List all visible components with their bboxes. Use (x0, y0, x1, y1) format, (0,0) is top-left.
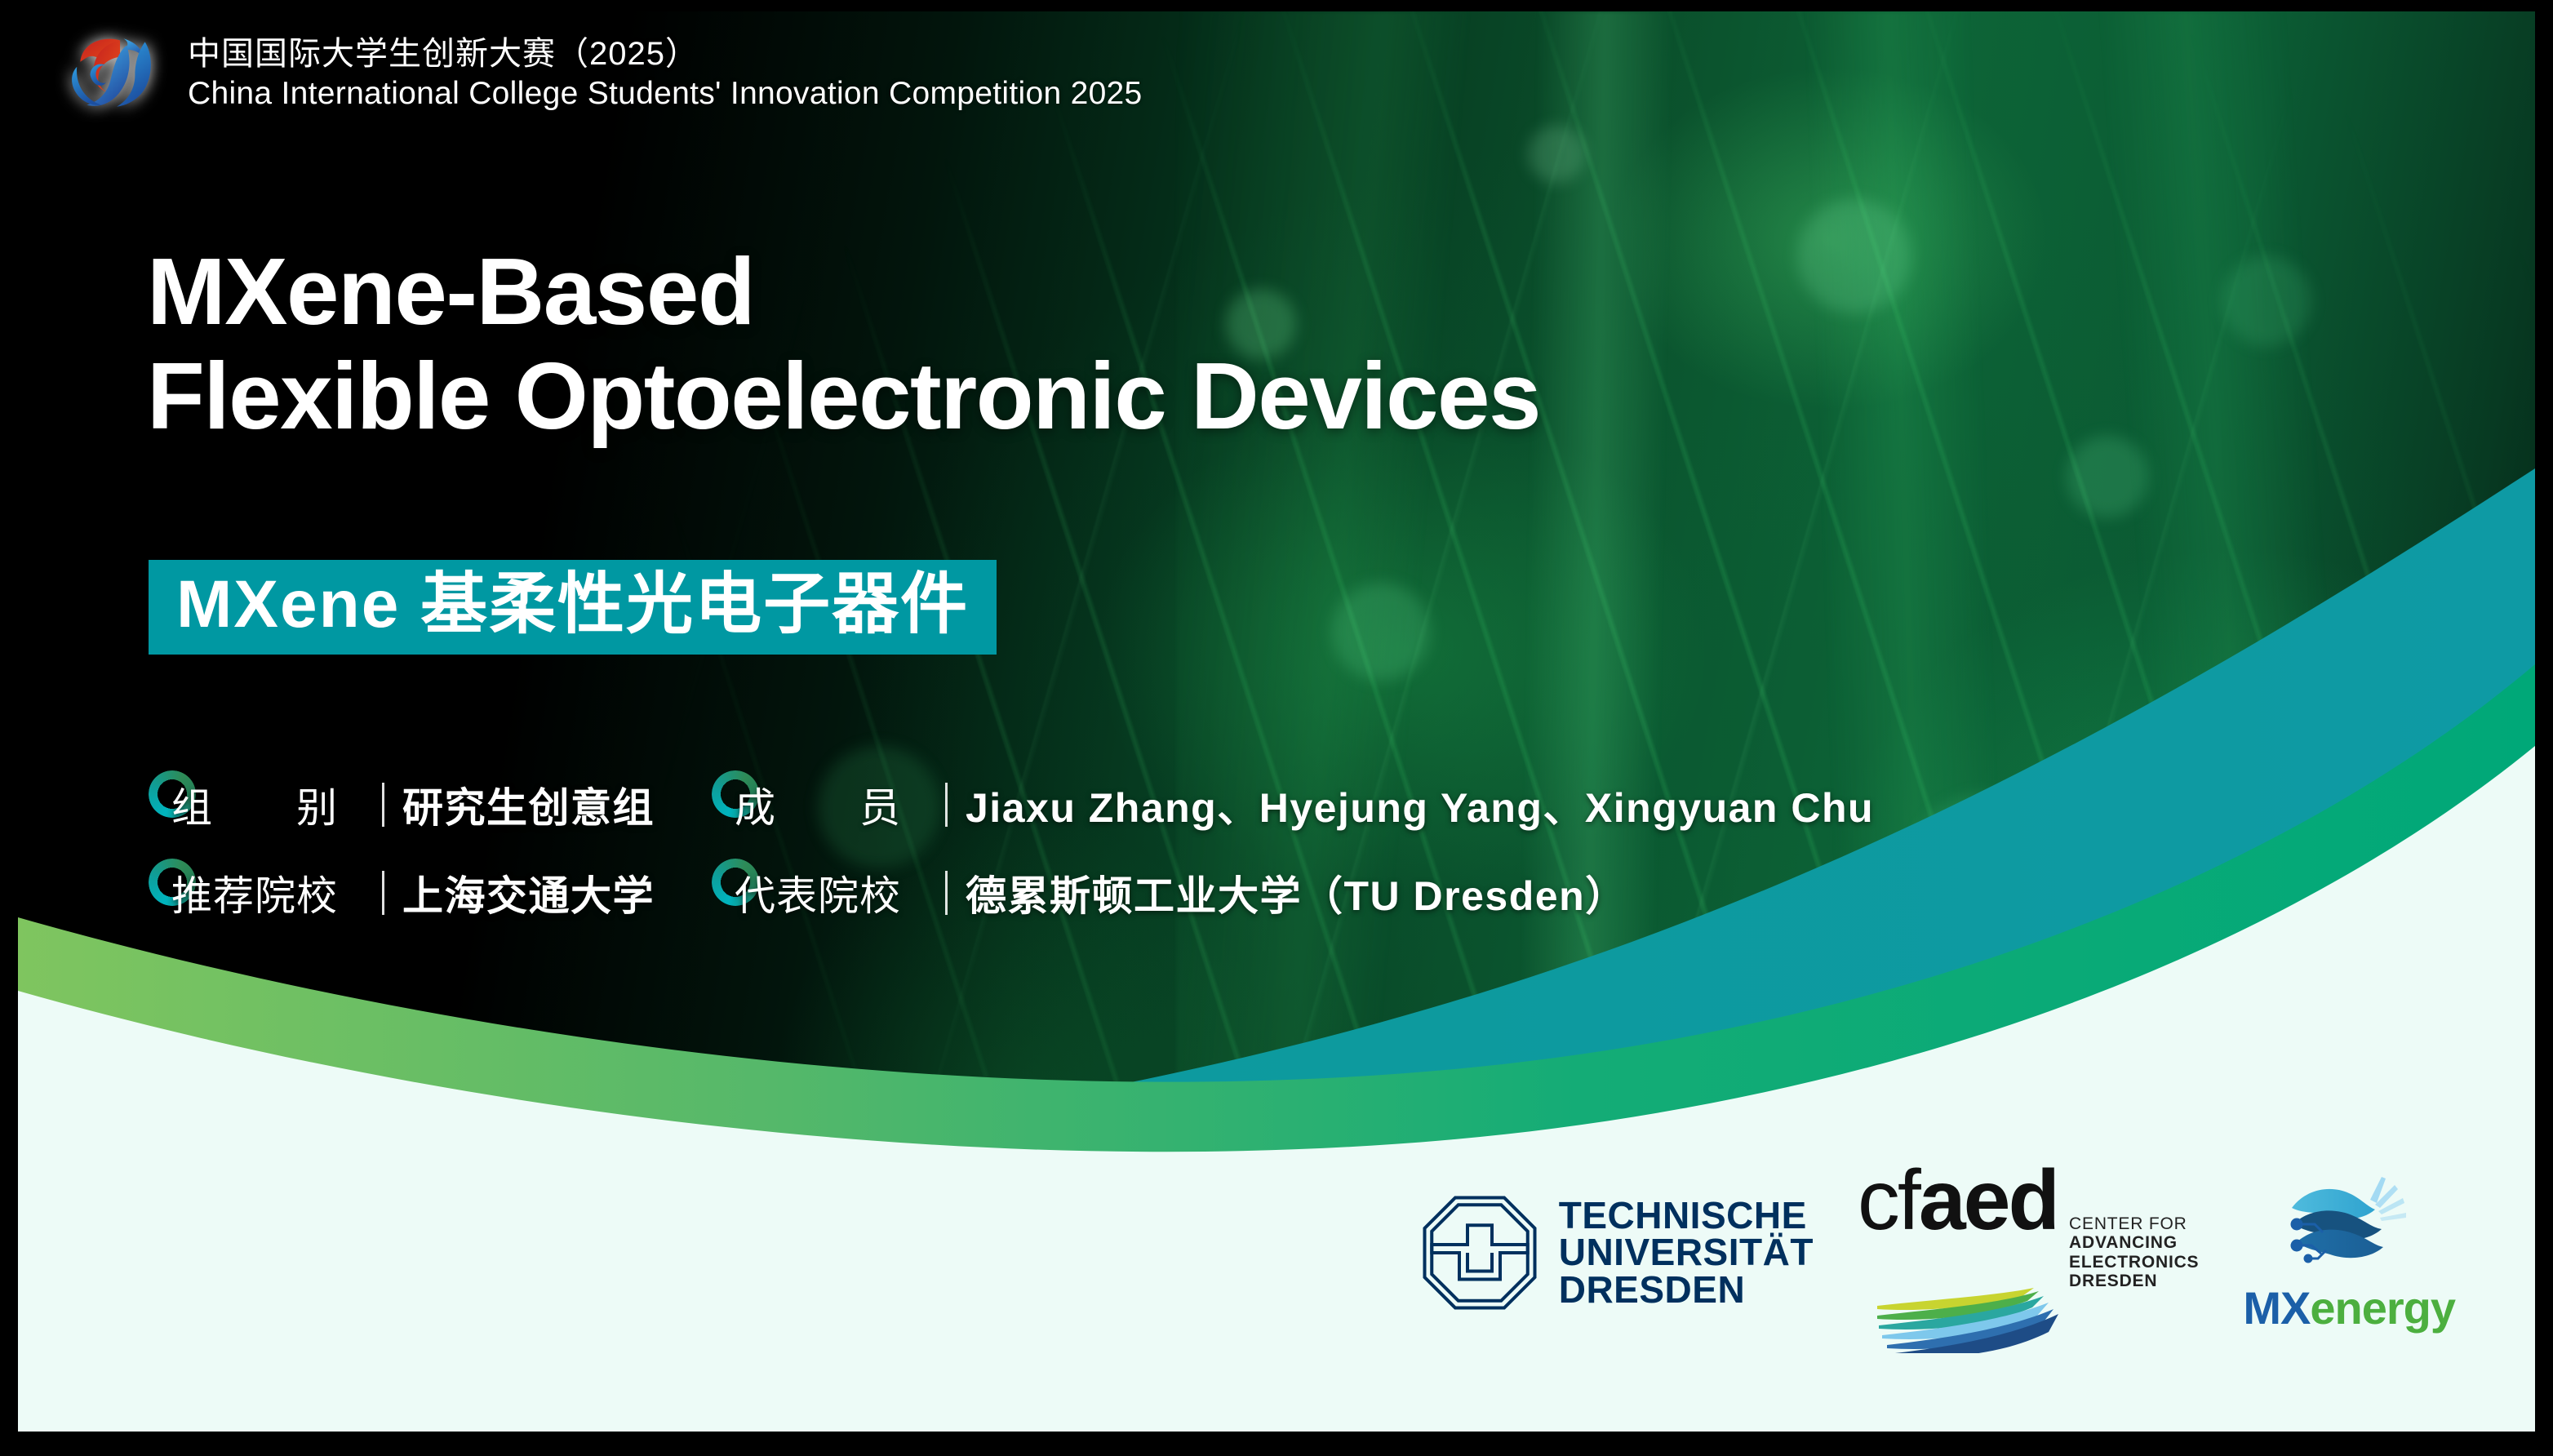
cfaed-wordmark: cf aed CENTER FOR ADVANCING ELECTRONICS … (1858, 1152, 2199, 1299)
meta-field-representing-school: 代表院校 德累斯顿工业大学（TU Dresden） (712, 863, 1627, 922)
tu-dresden-wordmark: TECHNISCHE UNIVERSITÄT DRESDEN (1559, 1197, 1814, 1307)
meta-label-members: 成 员 (735, 775, 927, 834)
tu-dresden-octagon-icon (1419, 1192, 1541, 1314)
cfaed-sub4: DRESDEN (2069, 1272, 2199, 1291)
mxenergy-wordmark: MXenergy (2243, 1281, 2455, 1334)
meta-label-group: 组 别 (171, 775, 364, 834)
meta-row: 推荐院校 上海交通大学 代表院校 德累斯顿工业大学（TU Dresden） (149, 849, 1874, 937)
meta-value-group: 研究生创意组 (402, 775, 655, 834)
mxenergy-word-mx: MX (2243, 1282, 2310, 1334)
tu-dresden-line1: TECHNISCHE (1559, 1197, 1814, 1234)
tu-dresden-line3: DRESDEN (1559, 1272, 1814, 1308)
project-title-cn-banner: MXene 基柔性光电子器件 (149, 560, 997, 655)
competition-name-block: 中国国际大学生创新大赛（2025） China International Co… (188, 34, 1143, 113)
cfaed-swoosh-icon (1871, 1288, 2075, 1353)
logo-cfaed: cf aed CENTER FOR ADVANCING ELECTRONICS … (1858, 1152, 2199, 1353)
cfaed-sub3: ELECTRONICS (2069, 1253, 2199, 1272)
meta-value-representing-school: 德累斯顿工业大学（TU Dresden） (966, 863, 1627, 922)
project-title: MXene-Based Flexible Optoelectronic Devi… (147, 240, 1540, 448)
project-title-line2: Flexible Optoelectronic Devices (147, 344, 1540, 449)
mxenergy-layers-icon (2279, 1170, 2419, 1285)
partner-logos: TECHNISCHE UNIVERSITÄT DRESDEN cf aed CE… (1419, 1152, 2455, 1353)
meta-label-recommending-school: 推荐院校 (171, 863, 364, 922)
cfaed-subtitle: CENTER FOR ADVANCING ELECTRONICS DRESDEN (2069, 1214, 2199, 1299)
cfaed-sub2: ADVANCING (2069, 1233, 2199, 1253)
meta-row: 组 别 研究生创意组 成 员 Jiaxu Zhang、Hyejung Yang、… (149, 761, 1874, 849)
meta-field-members: 成 员 Jiaxu Zhang、Hyejung Yang、Xingyuan Ch… (712, 775, 1874, 834)
cfaed-wordmark-light: cf (1858, 1152, 1919, 1250)
meta-divider (945, 871, 948, 915)
logo-tu-dresden: TECHNISCHE UNIVERSITÄT DRESDEN (1419, 1192, 1814, 1314)
competition-name-en: China International College Students' In… (188, 75, 1143, 113)
project-title-line1: MXene-Based (147, 240, 1540, 344)
project-title-cn: MXene 基柔性光电子器件 (176, 567, 969, 641)
cfaed-sub1: CENTER FOR (2069, 1214, 2199, 1234)
poster-artwork: 中国国际大学生创新大赛（2025） China International Co… (18, 11, 2535, 1432)
logo-mxenergy: MXenergy (2243, 1170, 2455, 1334)
meta-field-group: 组 别 研究生创意组 (149, 775, 655, 834)
mxenergy-word-energy: energy (2310, 1282, 2455, 1334)
meta-value-recommending-school: 上海交通大学 (402, 863, 655, 922)
meta-value-members: Jiaxu Zhang、Hyejung Yang、Xingyuan Chu (966, 775, 1874, 834)
meta-divider (945, 783, 948, 827)
meta-field-recommending-school: 推荐院校 上海交通大学 (149, 863, 655, 922)
poster-canvas: 中国国际大学生创新大赛（2025） China International Co… (0, 0, 2553, 1456)
meta-divider (382, 871, 384, 915)
tu-dresden-line2: UNIVERSITÄT (1559, 1234, 1814, 1271)
competition-name-cn: 中国国际大学生创新大赛（2025） (188, 34, 1143, 74)
competition-spiral-logo-icon (65, 23, 165, 124)
cfaed-wordmark-bold: aed (1919, 1152, 2058, 1250)
meta-label-representing-school: 代表院校 (735, 863, 927, 922)
meta-divider (382, 783, 384, 827)
competition-header: 中国国际大学生创新大赛（2025） China International Co… (65, 23, 1143, 124)
project-meta: 组 别 研究生创意组 成 员 Jiaxu Zhang、Hyejung Yang、… (149, 761, 1874, 937)
